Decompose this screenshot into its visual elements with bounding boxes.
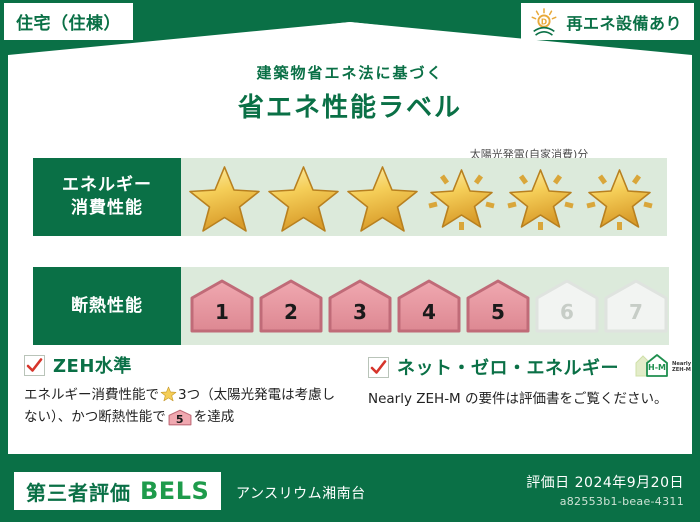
insulation-level-badge-inline: 5 [168,409,192,426]
insulation-level-number: 7 [629,300,643,334]
zeh-body-part1: エネルギー消費性能で [24,387,159,403]
insulation-level-number: 3 [353,300,367,334]
building-name: アンスリウム湘南台 [236,483,366,503]
insulation-level-badge-inactive: 6 [534,278,600,334]
star-icon [343,158,422,236]
zeh-m-logo-icon: H-M Nearly ZEH-M [633,352,693,382]
evaluation-id: a82553b1-beae-4311 [526,495,684,508]
feature-zeh-header: ZEH水準 [24,352,338,378]
bels-chip: 第三者評価 BELS [14,472,221,510]
insulation-level-number: 2 [284,300,298,334]
insulation-level-number: 1 [215,300,229,334]
feature-zeh-body: エネルギー消費性能で3つ（太陽光発電は考慮しない）、かつ断熱性能で5を達成 [24,385,338,429]
energy-performance-row: エネルギー 消費性能 [33,158,667,236]
star-rating-track [181,158,667,236]
third-party-label: 第三者評価 [26,477,131,506]
insulation-performance-row: 断熱性能 1 2 [33,267,667,345]
solar-sun-icon: D [529,7,559,37]
feature-net-zero-title: ネット・ゼロ・エネルギー [397,354,619,380]
renewable-badge-label: 再エネ設備あり [566,10,682,34]
insulation-performance-label-box: 断熱性能 [33,267,181,345]
star-icon [185,158,264,236]
insulation-level-number: 5 [491,300,505,334]
page-title: 省エネ性能ラベル [0,87,700,124]
category-chip: 住宅（住棟） [4,3,133,40]
zeh-m-caption-2: ZEH-M [672,367,691,373]
inline-badge-number: 5 [168,411,192,429]
zeh-m-logo-text: H-M [648,363,666,372]
energy-performance-label-box: エネルギー 消費性能 [33,158,181,236]
check-icon [24,355,45,376]
feature-net-zero: ネット・ゼロ・エネルギー H-M Nearly ZEH-M Nearly ZEH… [354,352,684,429]
category-label: 住宅（住棟） [16,9,121,34]
energy-label-line2: 消費性能 [71,197,143,220]
star-icon [160,385,177,402]
check-icon [368,357,389,378]
feature-net-zero-body: Nearly ZEH-M の要件は評価書をご覧ください。 [368,389,668,411]
insulation-level-number: 6 [560,300,574,334]
svg-text:D: D [541,17,547,26]
insulation-level-track: 1 2 3 4 [181,267,669,345]
insulation-level-badge-achieved: 5 [465,278,531,334]
insulation-level-badge: 3 [327,278,393,334]
insulation-level-badge: 2 [258,278,324,334]
footer-bar: 第三者評価 BELS アンスリウム湘南台 評価日 2024年9月20日 a825… [0,462,700,522]
feature-zeh: ZEH水準 エネルギー消費性能で3つ（太陽光発電は考慮しない）、かつ断熱性能で5… [24,352,354,429]
renewable-energy-chip: D 再エネ設備あり [521,3,694,40]
star-icon-solar [501,158,580,236]
insulation-level-badge: 4 [396,278,462,334]
evaluation-info: 評価日 2024年9月20日 a82553b1-beae-4311 [526,472,684,508]
feature-blocks: ZEH水準 エネルギー消費性能で3つ（太陽光発電は考慮しない）、かつ断熱性能で5… [24,352,684,429]
feature-zeh-title: ZEH水準 [53,352,132,378]
feature-net-zero-header: ネット・ゼロ・エネルギー H-M Nearly ZEH-M [368,352,668,382]
energy-label-line1: エネルギー [62,174,152,197]
insulation-level-badge: 1 [189,278,255,334]
title-subtitle: 建築物省エネ法に基づく [0,62,700,83]
star-icon [264,158,343,236]
star-icon-solar [422,158,501,236]
bels-label: BELS [140,477,209,505]
title-block: 建築物省エネ法に基づく 省エネ性能ラベル [0,62,700,124]
insulation-level-number: 4 [422,300,436,334]
insulation-level-badge-inactive: 7 [603,278,669,334]
zeh-body-part3: を達成 [194,409,235,425]
insulation-label: 断熱性能 [71,295,143,318]
star-icon-solar [580,158,659,236]
evaluation-date: 評価日 2024年9月20日 [526,472,684,492]
energy-performance-label: 住宅（住棟） D 再エネ設備あり 建築物省エネ法に基づく 省エネ性能ラベル 太陽… [0,0,700,522]
